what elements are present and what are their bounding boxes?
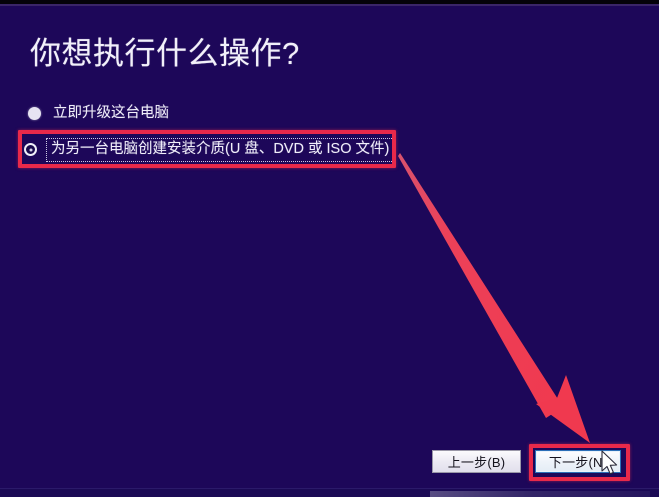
taskbar-ghost-strip bbox=[430, 491, 650, 497]
mouse-pointer-icon bbox=[600, 450, 620, 478]
page-title: 你想执行什么操作? bbox=[30, 28, 300, 73]
radio-option-upgrade-this-pc[interactable]: 立即升级这台电脑 bbox=[28, 106, 169, 121]
red-arrow-icon bbox=[0, 0, 659, 497]
window-top-hairline bbox=[0, 4, 659, 6]
back-button[interactable]: 上一步(B) bbox=[432, 450, 521, 473]
annotation-highlight-option bbox=[18, 130, 396, 168]
radio-unselected-icon[interactable] bbox=[28, 107, 41, 120]
radio-option-label-upgrade-this-pc: 立即升级这台电脑 bbox=[53, 106, 169, 121]
setup-wizard-window: 你想执行什么操作? 立即升级这台电脑 为另一台电脑创建安装介质(U 盘、DVD … bbox=[0, 0, 659, 497]
